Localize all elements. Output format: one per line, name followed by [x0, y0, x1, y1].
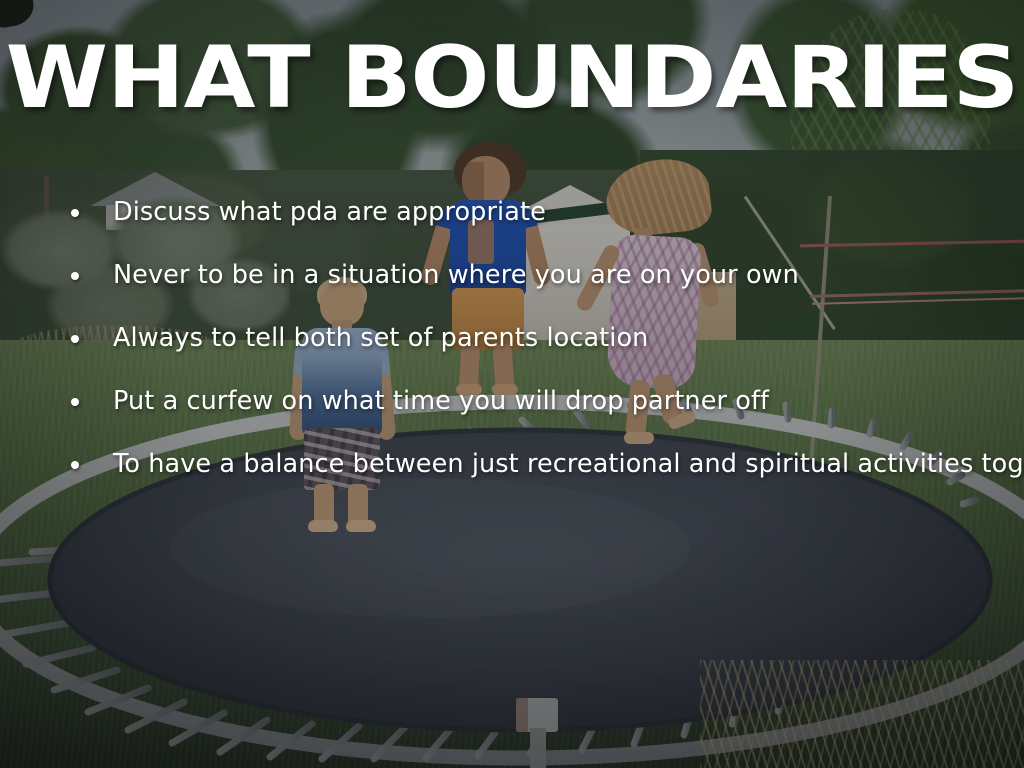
list-item: Never to be in a situation where you are…: [66, 259, 1006, 322]
bullet-text: Put a curfew on what time you will drop …: [113, 385, 769, 418]
list-item: Always to tell both set of parents locat…: [66, 322, 1006, 385]
bullet-dot-icon: [71, 461, 79, 469]
slide-canvas: WHAT BOUNDARIES Discuss what pda are app…: [0, 0, 1024, 768]
bullet-dot-icon: [71, 335, 79, 343]
page-title: WHAT BOUNDARIES: [0, 36, 1024, 120]
list-item: Discuss what pda are appropriate: [66, 196, 1006, 259]
list-item: Put a curfew on what time you will drop …: [66, 385, 1006, 448]
list-item: To have a balance between just recreatio…: [66, 448, 1006, 511]
bullet-text: To have a balance between just recreatio…: [113, 448, 1024, 481]
bullet-dot-icon: [71, 272, 79, 280]
bullet-list: Discuss what pda are appropriate Never t…: [66, 196, 1006, 511]
bullet-text: Always to tell both set of parents locat…: [113, 322, 648, 355]
bullet-text: Discuss what pda are appropriate: [113, 196, 546, 229]
bullet-dot-icon: [71, 209, 79, 217]
bullet-text: Never to be in a situation where you are…: [113, 259, 799, 292]
bullet-dot-icon: [71, 398, 79, 406]
slide-content: WHAT BOUNDARIES Discuss what pda are app…: [0, 0, 1024, 768]
